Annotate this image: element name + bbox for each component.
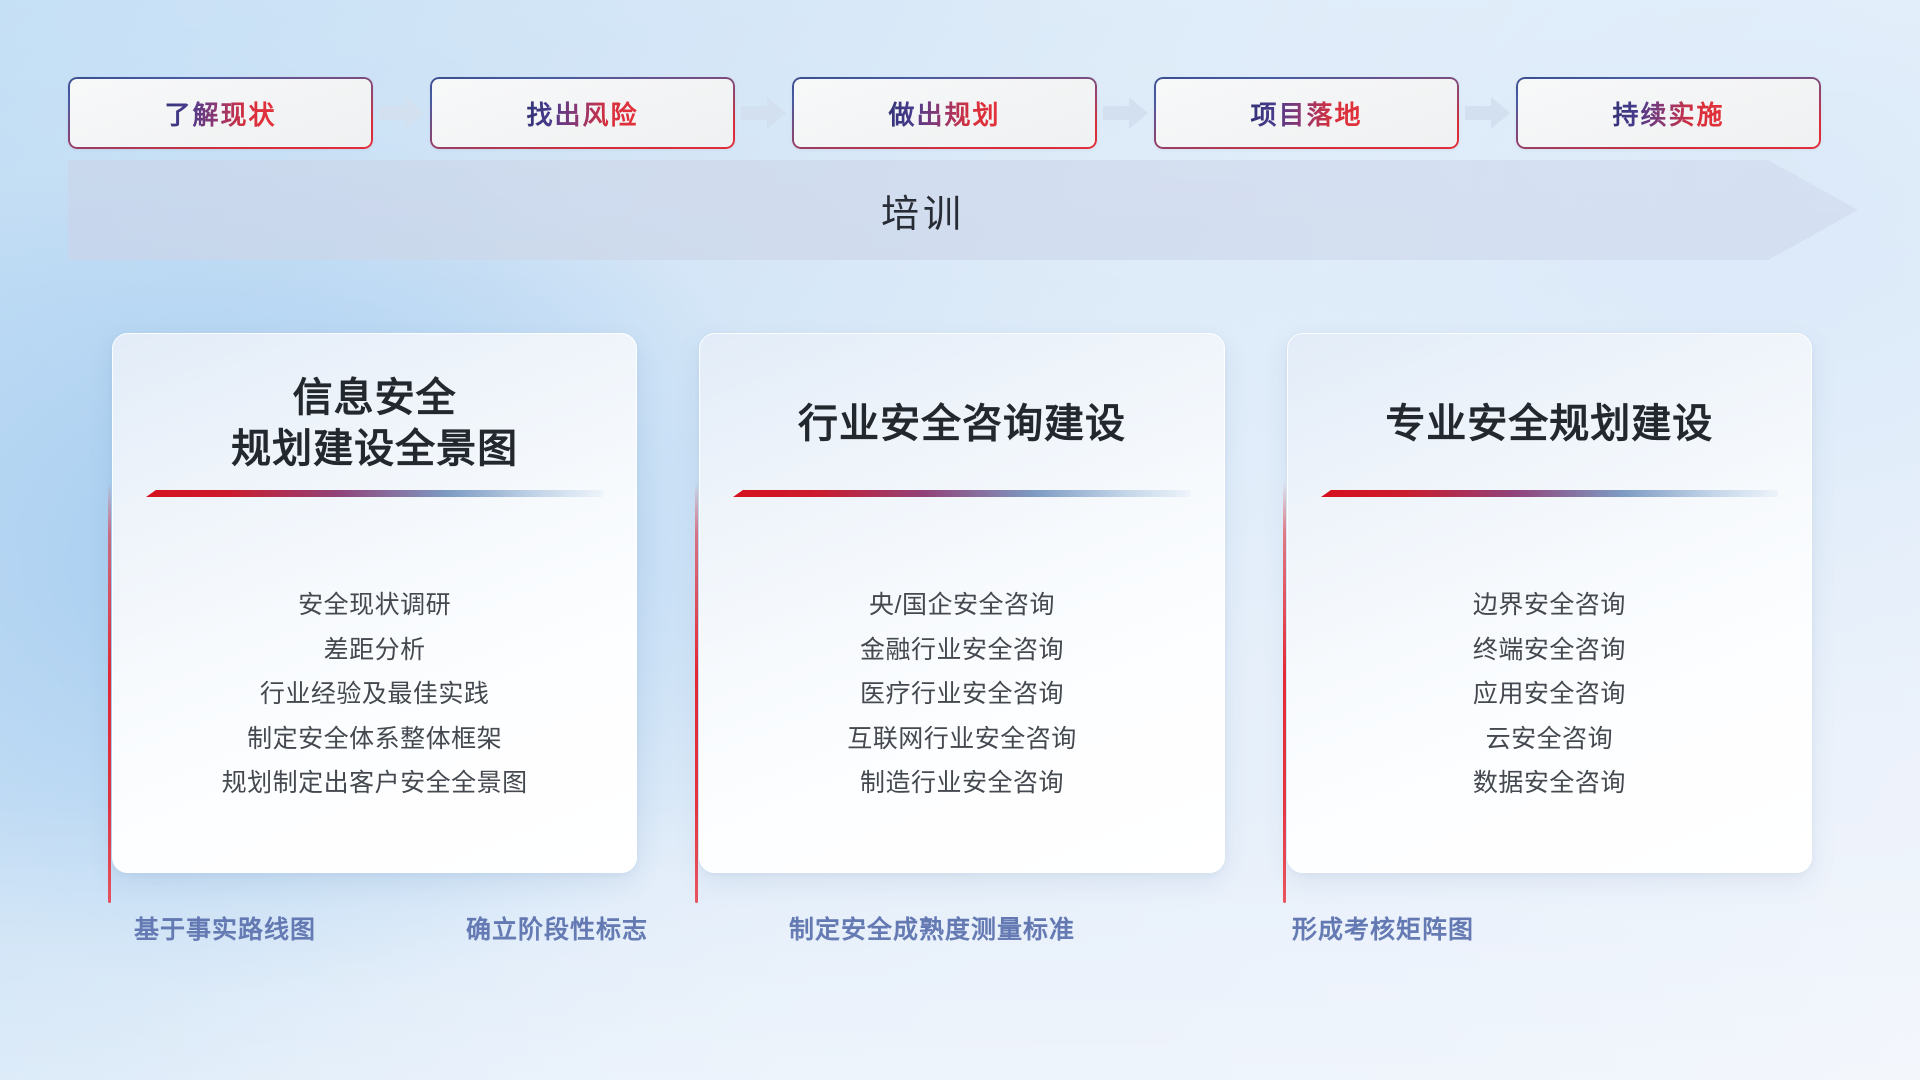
process-step-3[interactable]: 做出规划 [792,77,1097,149]
process-step-label: 做出规划 [888,95,1000,132]
arrow-right-icon [1459,77,1516,149]
process-step-2[interactable]: 找出风险 [430,77,735,149]
list-item: 安全现状调研 [112,583,637,628]
list-item: 医疗行业安全咨询 [699,672,1224,717]
training-banner: 培训 [68,160,1858,260]
gradient-divider-icon [733,489,1190,499]
arrow-right-icon [1097,77,1154,149]
list-item: 数据安全咨询 [1287,761,1812,806]
list-item: 差距分析 [112,628,637,673]
list-item: 边界安全咨询 [1287,583,1812,628]
footnote-label: 基于事实路线图 [134,910,316,946]
gradient-divider-icon [1321,489,1778,499]
gradient-divider-icon [146,489,603,499]
card-title: 信息安全 规划建设全景图 [112,333,637,475]
process-step-4[interactable]: 项目落地 [1154,77,1459,149]
footnote-label: 制定安全成熟度测量标准 [789,910,1075,946]
list-item: 终端安全咨询 [1287,628,1812,673]
process-step-label: 找出风险 [526,95,638,132]
list-item: 金融行业安全咨询 [699,628,1224,673]
process-step-label: 了解现状 [164,95,276,132]
footnote-label: 形成考核矩阵图 [1292,910,1474,946]
card-panel[interactable]: 专业安全规划建设 [1287,333,1812,873]
footnote-label: 确立阶段性标志 [466,910,648,946]
list-item: 云安全咨询 [1287,717,1812,762]
card-title: 专业安全规划建设 [1287,333,1812,450]
slide-canvas: 了解现状 找出风险 做出规划 项目落地 [0,0,1920,1080]
list-item: 制造行业安全咨询 [699,761,1224,806]
card-panel[interactable]: 行业安全咨询建设 [699,333,1224,873]
list-item: 制定安全体系整体框架 [112,717,637,762]
list-item: 应用安全咨询 [1287,672,1812,717]
list-item: 行业经验及最佳实践 [112,672,637,717]
card-accent-stripe [1283,483,1286,903]
process-step-5[interactable]: 持续实施 [1516,77,1821,149]
process-step-label: 持续实施 [1612,95,1724,132]
footnote-row: 基于事实路线图 确立阶段性标志 制定安全成熟度测量标准 形成考核矩阵图 [0,910,1920,958]
list-item: 互联网行业安全咨询 [699,717,1224,762]
training-banner-label: 培训 [68,160,1858,260]
card-item-list: 边界安全咨询 终端安全咨询 应用安全咨询 云安全咨询 数据安全咨询 [1287,583,1812,806]
list-item: 央/国企安全咨询 [699,583,1224,628]
card-item-list: 安全现状调研 差距分析 行业经验及最佳实践 制定安全体系整体框架 规划制定出客户… [112,583,637,806]
card-accent-stripe [695,483,698,903]
card-group: 信息安全 规划建设全景图 [112,333,1812,873]
process-step-row: 了解现状 找出风险 做出规划 项目落地 [68,77,1858,149]
process-step-1[interactable]: 了解现状 [68,77,373,149]
card-accent-stripe [108,483,111,903]
card-item-list: 央/国企安全咨询 金融行业安全咨询 医疗行业安全咨询 互联网行业安全咨询 制造行… [699,583,1224,806]
list-item: 规划制定出客户安全全景图 [112,761,637,806]
arrow-right-icon [735,77,792,149]
card-panel[interactable]: 信息安全 规划建设全景图 [112,333,637,873]
process-step-label: 项目落地 [1250,95,1362,132]
card-title: 行业安全咨询建设 [699,333,1224,450]
arrow-right-icon [373,77,430,149]
